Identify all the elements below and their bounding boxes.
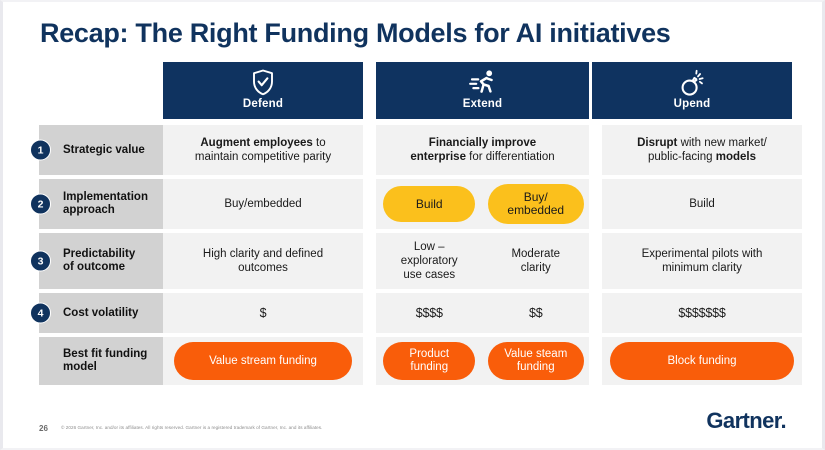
pill-product-funding[interactable]: Product funding — [383, 342, 475, 380]
row-number-badge: 1 — [30, 140, 51, 161]
column-gap — [589, 125, 602, 175]
row-label-text: Cost volatility — [63, 307, 138, 320]
column-gap — [589, 337, 602, 385]
cell-defend-strategic-value: Augment employees to maintain competitiv… — [163, 125, 363, 175]
column-header-label: Upend — [674, 98, 711, 110]
cell-extend-predictability: Low – exploratory use cases Moderate cla… — [376, 233, 589, 289]
gartner-logo-mark: . — [780, 408, 786, 433]
row-label-best-fit-funding-model: Best fit funding model — [39, 337, 163, 385]
row-label-cost-volatility: 4 Cost volatility — [39, 293, 163, 333]
page-title: Recap: The Right Funding Models for AI i… — [40, 18, 671, 49]
cell-defend-predictability: High clarity and defined outcomes — [163, 233, 363, 289]
cell-text: clarity — [521, 262, 551, 274]
cell-extend-implementation: Build Buy/ embedded — [376, 179, 589, 229]
cell-extend-cost-left: $$$$ — [376, 293, 483, 333]
cell-text: use cases — [403, 269, 455, 281]
cell-extend-implementation-right: Buy/ embedded — [483, 179, 590, 229]
row-label-text: Predictability — [63, 248, 135, 260]
row-label-text: model — [63, 361, 97, 373]
pill-text: embedded — [507, 203, 564, 217]
cell-text: public-facing — [648, 151, 716, 163]
column-header-extend: Extend — [376, 62, 589, 119]
cell-upend-funding: Block funding — [602, 337, 802, 385]
column-gap — [363, 337, 376, 385]
column-gap — [363, 233, 376, 289]
running-person-icon — [469, 66, 497, 99]
cell-text: with new market/ — [677, 137, 766, 149]
cell-text-bold: Disrupt — [637, 137, 677, 149]
pill-value-steam-funding[interactable]: Value steam funding — [488, 342, 584, 380]
slide: Recap: The Right Funding Models for AI i… — [0, 0, 825, 450]
gartner-logo-text: Gartner — [706, 408, 780, 433]
cell-defend-funding: Value stream funding — [163, 337, 363, 385]
column-gap — [589, 179, 602, 229]
row-label-predictability: 3 Predictability of outcome — [39, 233, 163, 289]
cell-extend-predictability-right: Moderate clarity — [483, 233, 590, 289]
pill-text: Buy/ — [524, 190, 548, 204]
column-gap — [363, 125, 376, 175]
column-gap — [589, 293, 602, 333]
row-number-badge: 3 — [30, 251, 51, 272]
cell-extend-funding-left: Product funding — [376, 337, 483, 385]
pill-text: funding — [517, 361, 555, 373]
cell-text: Buy/embedded — [224, 197, 301, 211]
row-label-text: Implementation — [63, 191, 148, 203]
cell-upend-predictability: Experimental pilots with minimum clarity — [602, 233, 802, 289]
cost-value: $ — [260, 306, 267, 320]
cell-text: outcomes — [238, 262, 288, 274]
pill-buy-embedded[interactable]: Buy/ embedded — [488, 184, 584, 224]
cell-text: minimum clarity — [662, 262, 742, 274]
cell-extend-cost-right: $$ — [483, 293, 590, 333]
column-header-label: Defend — [243, 98, 283, 110]
cell-defend-cost: $ — [163, 293, 363, 333]
row-label-text: Best fit funding — [63, 348, 147, 360]
row-label-text: approach — [63, 204, 115, 216]
cell-text-bold: enterprise — [410, 151, 466, 163]
copyright-notice: © 2026 Gartner, Inc. and/or its affiliat… — [61, 425, 322, 430]
cost-value: $$$$$$$ — [678, 306, 725, 320]
cell-text-bold: models — [716, 151, 756, 163]
cost-value: $$$$ — [416, 306, 443, 320]
cell-text: Moderate — [511, 248, 560, 260]
row-label-strategic-value: 1 Strategic value — [39, 125, 163, 175]
page-number: 26 — [39, 424, 48, 433]
cell-text: High clarity and defined — [203, 248, 323, 260]
row-label-text: Strategic value — [63, 144, 145, 157]
bomb-icon — [679, 66, 705, 99]
cell-text: Experimental pilots with — [642, 248, 763, 260]
cell-extend-funding-right: Value steam funding — [483, 337, 590, 385]
table-row: 2 Implementation approach Buy/embedded B… — [39, 179, 792, 229]
cell-text-bold: Augment employees — [200, 137, 312, 149]
cell-extend-implementation-left: Build — [376, 179, 483, 229]
pill-block-funding[interactable]: Block funding — [610, 342, 794, 380]
column-gap — [363, 293, 376, 333]
table-row: 3 Predictability of outcome High clarity… — [39, 233, 792, 289]
row-number-badge: 2 — [30, 194, 51, 215]
cell-text: Low – — [414, 241, 445, 253]
cell-upend-strategic-value: Disrupt with new market/ public-facing m… — [602, 125, 802, 175]
column-header-label: Extend — [463, 98, 503, 110]
table-row: 1 Strategic value Augment employees to m… — [39, 125, 792, 175]
row-label-implementation-approach: 2 Implementation approach — [39, 179, 163, 229]
gartner-logo: Gartner. — [706, 408, 786, 434]
cell-text: to — [313, 137, 326, 149]
pill-build[interactable]: Build — [383, 186, 475, 222]
column-header-defend: Defend — [163, 62, 363, 119]
cell-text: Build — [689, 197, 715, 211]
cell-text: for differentiation — [466, 151, 555, 163]
cell-text: maintain competitive parity — [195, 151, 331, 163]
row-number-badge: 4 — [30, 303, 51, 324]
table-row: Best fit funding model Value stream fund… — [39, 337, 792, 385]
pill-text: Product — [409, 348, 449, 360]
cell-upend-cost: $$$$$$$ — [602, 293, 802, 333]
shield-check-icon — [252, 66, 274, 99]
column-gap — [363, 179, 376, 229]
cell-upend-implementation: Build — [602, 179, 802, 229]
pill-text: funding — [410, 361, 448, 373]
row-label-text: of outcome — [63, 261, 125, 273]
table-row: 4 Cost volatility $ $$$$ $$ $$$$$$$ — [39, 293, 792, 333]
cost-value: $$ — [529, 306, 543, 320]
cell-extend-cost: $$$$ $$ — [376, 293, 589, 333]
comparison-table: 1 Strategic value Augment employees to m… — [39, 125, 792, 385]
cell-extend-funding: Product funding Value steam funding — [376, 337, 589, 385]
column-header-upend: Upend — [592, 62, 792, 119]
pill-text: Value steam — [504, 348, 567, 360]
cell-defend-implementation: Buy/embedded — [163, 179, 363, 229]
cell-extend-strategic-value: Financially improve enterprise for diffe… — [376, 125, 589, 175]
cell-text: exploratory — [401, 255, 458, 267]
cell-text-bold: Financially improve — [429, 137, 536, 149]
cell-extend-predictability-left: Low – exploratory use cases — [376, 233, 483, 289]
pill-value-stream-funding[interactable]: Value stream funding — [174, 342, 352, 380]
column-gap — [589, 233, 602, 289]
